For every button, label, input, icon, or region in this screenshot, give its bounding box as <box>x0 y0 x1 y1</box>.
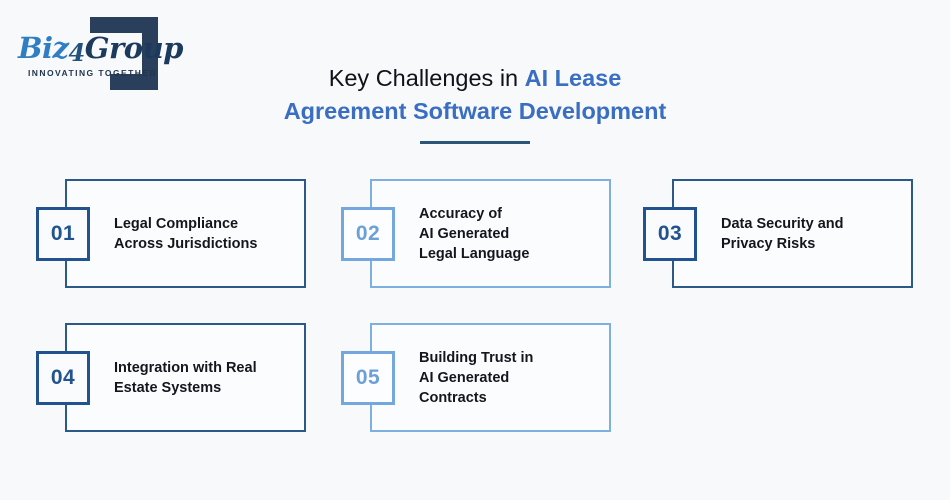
page-title-accent-text-2: Agreement Software Development <box>284 98 667 124</box>
challenge-card-04: 04 Integration with Real Estate Systems <box>65 323 306 432</box>
card-text-line: Privacy Risks <box>721 234 903 254</box>
card-text-line: Building Trust in <box>419 348 601 368</box>
challenge-card-03: 03 Data Security and Privacy Risks <box>672 179 913 288</box>
page-title-line-1: Key Challenges in AI Lease <box>235 62 715 95</box>
card-text: Integration with Real Estate Systems <box>114 358 296 398</box>
card-text-line: Estate Systems <box>114 378 296 398</box>
card-text-line: Legal Compliance <box>114 214 296 234</box>
card-text-line: Data Security and <box>721 214 903 234</box>
logo-tagline: INNOVATING TOGETHER <box>28 68 158 78</box>
card-text-line: Integration with Real <box>114 358 296 378</box>
brand-logo: Biz4Group INNOVATING TOGETHER <box>18 14 183 96</box>
page-title-line-2: Agreement Software Development <box>235 95 715 128</box>
card-text-line: Contracts <box>419 388 601 408</box>
card-number-badge: 03 <box>643 207 697 261</box>
card-text: Building Trust in AI Generated Contracts <box>419 348 601 408</box>
card-text-line: AI Generated <box>419 224 601 244</box>
challenge-card-05: 05 Building Trust in AI Generated Contra… <box>370 323 611 432</box>
card-text: Accuracy of AI Generated Legal Language <box>419 204 601 264</box>
logo-word-four: 4 <box>69 38 85 67</box>
card-number-badge: 04 <box>36 351 90 405</box>
page-title-accent-text: AI Lease <box>525 65 622 91</box>
card-text: Data Security and Privacy Risks <box>721 214 903 254</box>
card-number-badge: 02 <box>341 207 395 261</box>
logo-word-group: Group <box>85 31 183 65</box>
card-number-badge: 05 <box>341 351 395 405</box>
logo-wordmark: Biz4Group <box>18 34 158 63</box>
logo-word-biz: Biz <box>18 31 69 65</box>
card-text-line: Across Jurisdictions <box>114 234 296 254</box>
card-text-line: Legal Language <box>419 244 601 264</box>
logo-text: Biz4Group INNOVATING TOGETHER <box>18 34 158 78</box>
card-number-badge: 01 <box>36 207 90 261</box>
challenge-card-01: 01 Legal Compliance Across Jurisdictions <box>65 179 306 288</box>
title-underline-divider <box>420 141 530 144</box>
page-title-plain-text: Key Challenges in <box>329 65 525 91</box>
page-title: Key Challenges in AI Lease Agreement Sof… <box>235 62 715 144</box>
card-text: Legal Compliance Across Jurisdictions <box>114 214 296 254</box>
challenge-card-02: 02 Accuracy of AI Generated Legal Langua… <box>370 179 611 288</box>
card-text-line: AI Generated <box>419 368 601 388</box>
card-text-line: Accuracy of <box>419 204 601 224</box>
